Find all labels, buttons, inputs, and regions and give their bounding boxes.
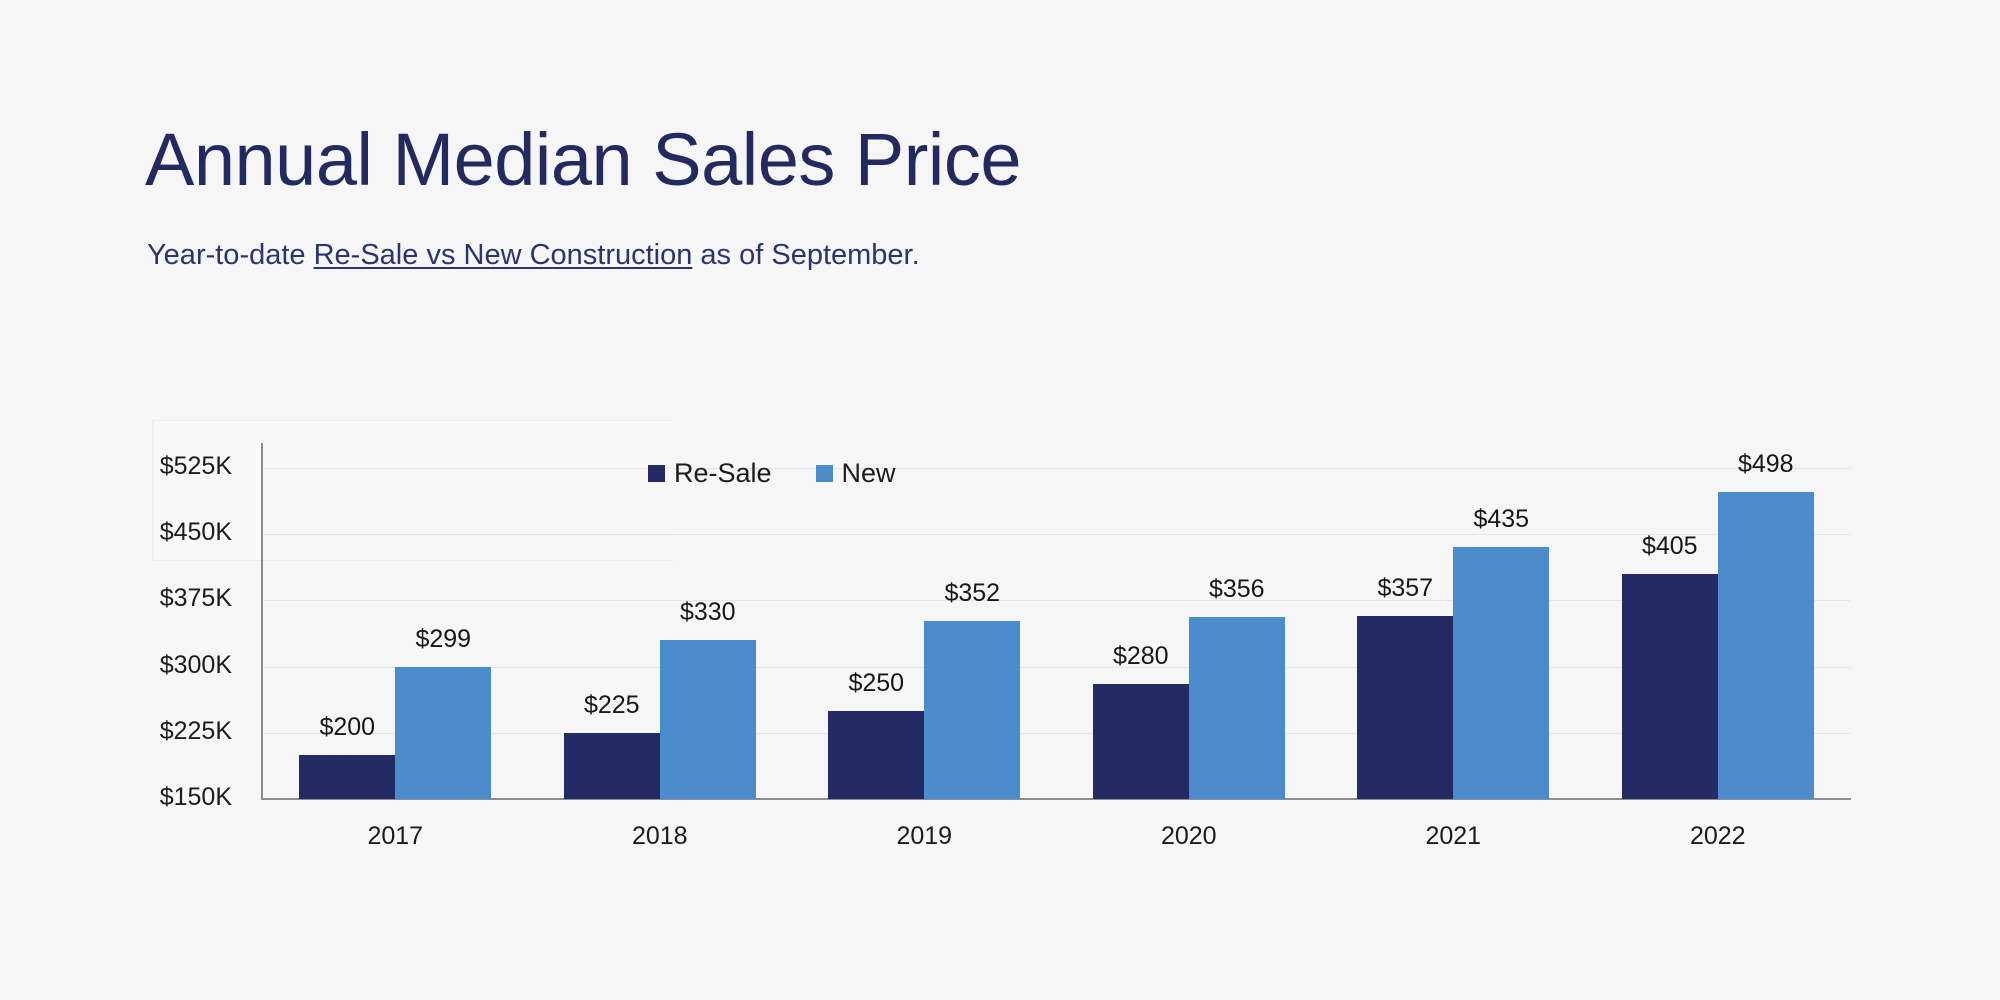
y-axis-tick-label: $150K xyxy=(122,783,232,812)
legend-item-re-sale[interactable]: Re-Sale xyxy=(648,460,772,487)
bar-value-label: $200 xyxy=(279,713,415,742)
x-axis-tick-label: 2020 xyxy=(1057,822,1322,851)
bar-value-label: $356 xyxy=(1169,575,1305,604)
bar-value-label: $357 xyxy=(1337,574,1473,603)
chart-legend: Re-SaleNew xyxy=(648,460,896,487)
bar-chart: $525K$450K$375K$300K$225K$150K $200$299$… xyxy=(0,0,2000,1000)
x-axis-tick-label: 2017 xyxy=(263,822,528,851)
bar-re-sale-2019[interactable] xyxy=(828,711,924,799)
y-axis-tick-label: $450K xyxy=(122,518,232,547)
bar-value-label: $405 xyxy=(1602,532,1738,561)
bar-re-sale-2022[interactable] xyxy=(1622,574,1718,799)
bar-value-label: $435 xyxy=(1433,505,1569,534)
bar-re-sale-2021[interactable] xyxy=(1357,616,1453,799)
bar-re-sale-2017[interactable] xyxy=(299,755,395,799)
bar-value-label: $352 xyxy=(904,579,1040,608)
legend-label: Re-Sale xyxy=(674,460,772,487)
chart-page: Annual Median Sales Price Year-to-date R… xyxy=(0,0,2000,1000)
bar-value-label: $225 xyxy=(544,691,680,720)
bar-re-sale-2018[interactable] xyxy=(564,733,660,799)
legend-swatch-icon xyxy=(816,465,833,482)
plot-area xyxy=(263,443,1850,799)
bar-value-label: $280 xyxy=(1073,642,1209,671)
bar-value-label: $299 xyxy=(375,625,511,654)
x-axis-tick-label: 2018 xyxy=(528,822,793,851)
x-axis-tick-label: 2019 xyxy=(792,822,1057,851)
x-axis-tick-label: 2021 xyxy=(1321,822,1586,851)
bar-new-2019[interactable] xyxy=(924,621,1020,799)
y-axis-tick-label: $525K xyxy=(122,452,232,481)
y-axis-tick-label: $375K xyxy=(122,584,232,613)
legend-swatch-icon xyxy=(648,465,665,482)
bar-value-label: $498 xyxy=(1698,450,1834,479)
legend-item-new[interactable]: New xyxy=(816,460,896,487)
y-axis-tick-label: $300K xyxy=(122,651,232,680)
bar-re-sale-2020[interactable] xyxy=(1093,684,1189,799)
y-axis-tick-label: $225K xyxy=(122,717,232,746)
bar-value-label: $330 xyxy=(640,598,776,627)
bar-value-label: $250 xyxy=(808,669,944,698)
x-axis-tick-label: 2022 xyxy=(1586,822,1851,851)
legend-label: New xyxy=(842,460,896,487)
